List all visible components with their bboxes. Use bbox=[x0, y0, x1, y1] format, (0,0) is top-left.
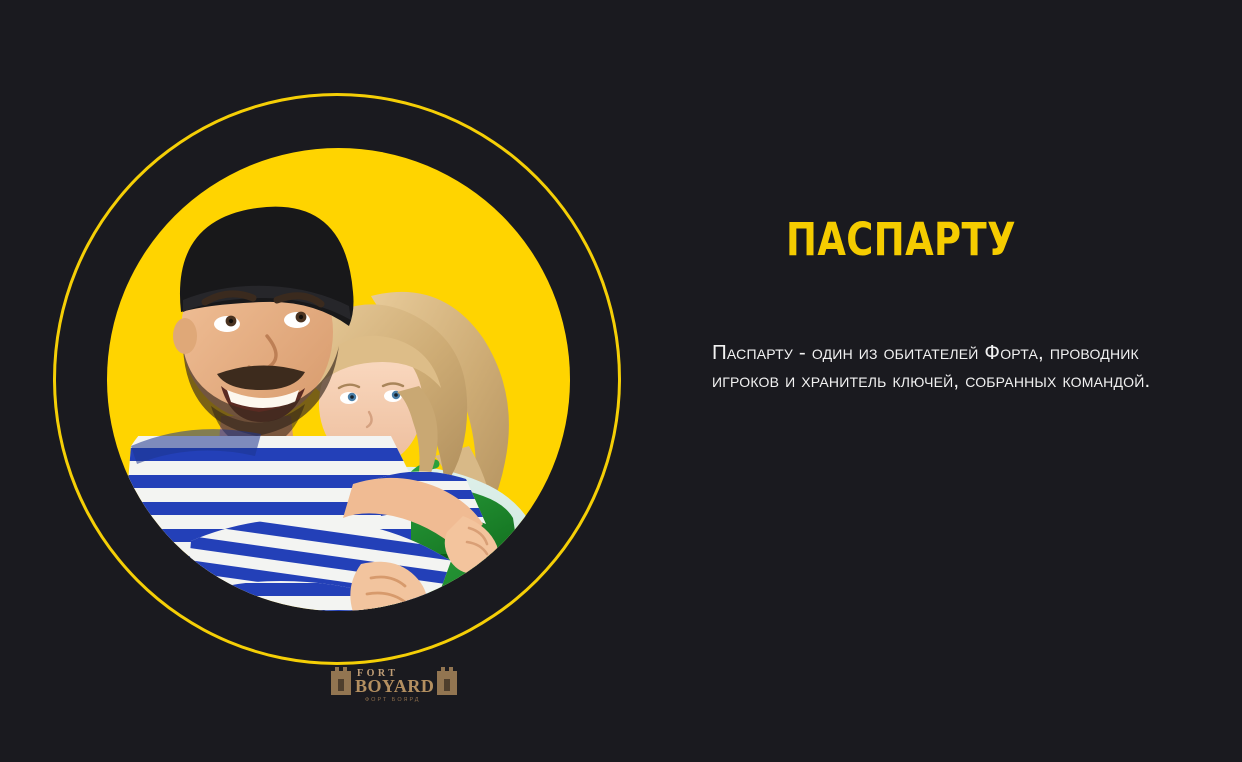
watermark-subtitle: ФОРТ БОЯРД bbox=[365, 697, 420, 703]
description-text: Паспарту - один из обитателей Форта, про… bbox=[712, 339, 1162, 395]
portrait-badge: FORT BOYARD ФОРТ БОЯРД bbox=[53, 93, 621, 665]
text-column: ПАСПАРТУ Паспарту - один из обитателей Ф… bbox=[711, 214, 1181, 266]
portrait-photo bbox=[107, 148, 570, 611]
watermark-boyard: BOYARD bbox=[355, 676, 434, 696]
page-title: ПАСПАРТУ bbox=[745, 214, 1057, 266]
fort-boyard-watermark: FORT BOYARD ФОРТ БОЯРД bbox=[327, 659, 467, 705]
slide-root: FORT BOYARD ФОРТ БОЯРД ПАСПАРТУ Паспарту… bbox=[0, 0, 1242, 762]
portrait-illustration bbox=[107, 148, 570, 611]
